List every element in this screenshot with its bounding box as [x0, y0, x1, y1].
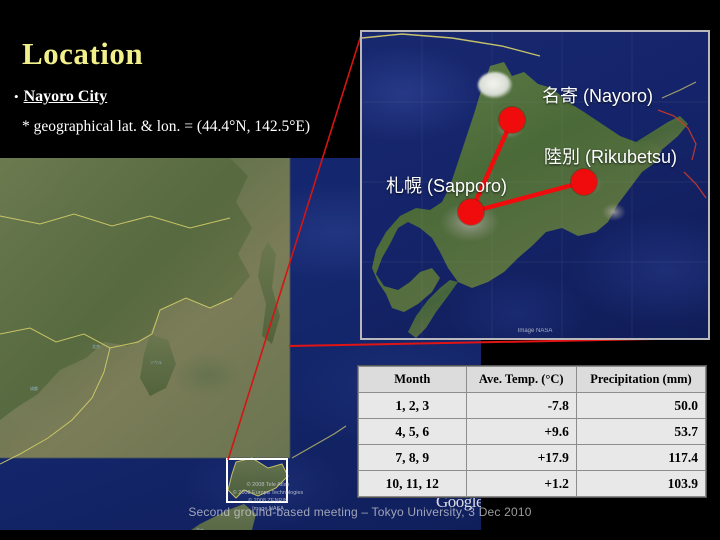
attribution-line: © 2008 Europa Technologies: [208, 490, 328, 498]
snow-cap-texture: [478, 72, 512, 98]
cell-precip: 103.9: [576, 471, 705, 497]
attribution-line: © 2008 Tele Atlas: [208, 482, 328, 490]
hokkaido-inset-map: 名寄 (Nayoro) 陸別 (Rikubetsu) 札幌 (Sapporo) …: [360, 30, 710, 340]
column-header-precip: Precipitation (mm): [576, 367, 705, 393]
cell-temp: +9.6: [466, 419, 576, 445]
table-header-row: Month Ave. Temp. (°C) Precipitation (mm): [359, 367, 706, 393]
climate-table: Month Ave. Temp. (°C) Precipitation (mm)…: [358, 366, 706, 497]
table-row: 4, 5, 6 +9.6 53.7: [359, 419, 706, 445]
inset-map-credit: Image NASA: [518, 328, 553, 334]
svg-text:北京: 北京: [92, 343, 100, 349]
cell-month: 10, 11, 12: [359, 471, 467, 497]
cell-month: 7, 8, 9: [359, 445, 467, 471]
cell-precip: 50.0: [576, 393, 705, 419]
svg-text:東京: 東京: [196, 527, 204, 530]
coordinates-text: * geographical lat. & lon. = (44.4°N, 14…: [22, 118, 310, 136]
column-header-month: Month: [359, 367, 467, 393]
city-label-nayoro: 名寄 (Nayoro): [542, 82, 653, 108]
bullet-item-nayoro-city: • Nayoro City: [14, 88, 107, 106]
city-label-rikubetsu: 陸別 (Rikubetsu): [544, 143, 677, 169]
bullet-label: Nayoro City: [24, 88, 108, 106]
climate-table-wrapper: Month Ave. Temp. (°C) Precipitation (mm)…: [358, 366, 706, 497]
cell-precip: 117.4: [576, 445, 705, 471]
cell-temp: -7.8: [466, 393, 576, 419]
bottom-bar: [0, 531, 720, 540]
cell-temp: +1.2: [466, 471, 576, 497]
city-marker-nayoro: [499, 107, 525, 133]
bullet-dot-icon: •: [14, 90, 19, 104]
slide-footer: Second ground-based meeting – Tokyo Univ…: [0, 505, 720, 519]
svg-text:成都: 成都: [30, 385, 38, 391]
city-marker-sapporo: [458, 199, 484, 225]
page-title: Location: [22, 38, 143, 69]
slide-canvas: Location • Nayoro City * geographical la…: [0, 0, 720, 540]
cell-precip: 53.7: [576, 419, 705, 445]
city-marker-rikubetsu: [571, 169, 597, 195]
cell-month: 4, 5, 6: [359, 419, 467, 445]
svg-text:ソウル: ソウル: [150, 359, 162, 365]
cell-temp: +17.9: [466, 445, 576, 471]
table-row: 7, 8, 9 +17.9 117.4: [359, 445, 706, 471]
cell-month: 1, 2, 3: [359, 393, 467, 419]
table-row: 1, 2, 3 -7.8 50.0: [359, 393, 706, 419]
city-label-sapporo: 札幌 (Sapporo): [386, 172, 507, 198]
column-header-temp: Ave. Temp. (°C): [466, 367, 576, 393]
table-row: 10, 11, 12 +1.2 103.9: [359, 471, 706, 497]
